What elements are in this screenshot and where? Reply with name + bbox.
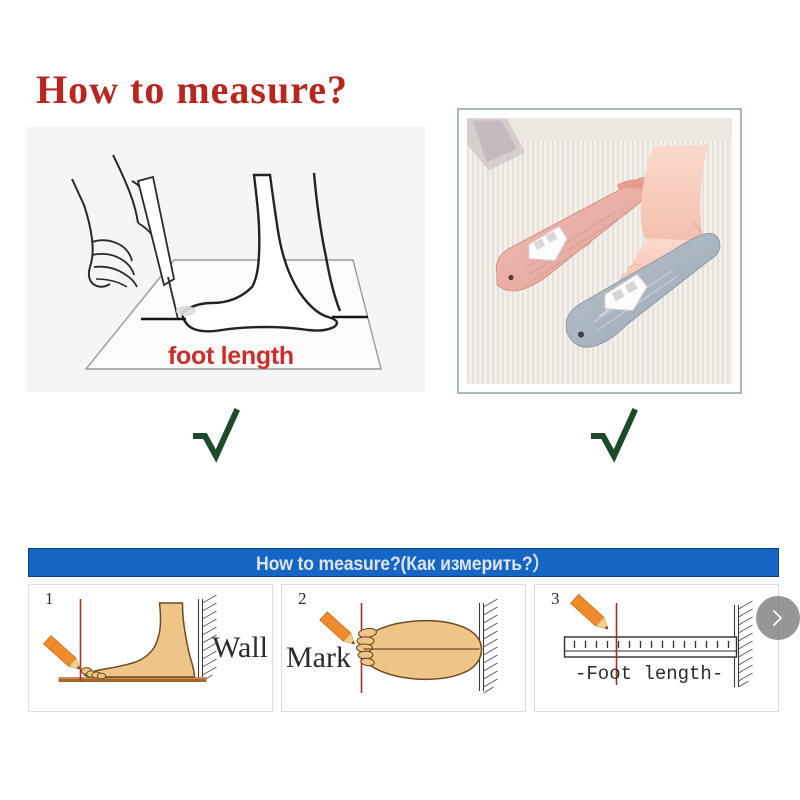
foot-length-caption: foot length: [168, 342, 294, 371]
how-to-measure-steps-block: How to measure?(Как измерить?）: [28, 548, 779, 713]
steps-panel-row: 1 Wall: [28, 584, 779, 712]
chevron-right-icon: [769, 609, 787, 627]
check-mark-icon-left: [190, 406, 248, 464]
check-mark-icon-right: [588, 406, 646, 464]
step-panel-3[interactable]: 3 -Foot length-: [534, 584, 779, 712]
carousel-next-button[interactable]: [756, 596, 800, 640]
step-label: Wall: [212, 631, 268, 665]
product-photo: [467, 118, 732, 384]
section-header-bar: How to measure?(Как измерить?）: [28, 548, 779, 577]
page-title: How to measure?: [36, 66, 348, 113]
step-number: 3: [551, 589, 560, 609]
step-label: Mark: [286, 641, 351, 675]
section-header-label: How to measure?(Как измерить?）: [257, 549, 551, 576]
foot-measuring-device-photo: [467, 118, 732, 384]
product-photo-frame: [457, 108, 742, 394]
step-panel-1[interactable]: 1 Wall: [28, 584, 273, 712]
step-label: -Foot length-: [575, 663, 723, 685]
step-panel-2[interactable]: 2 Mark: [281, 584, 526, 712]
step-number: 1: [45, 589, 54, 609]
check-mark-icon: [588, 406, 646, 464]
ruler-measure-diagram: [535, 585, 778, 711]
step-number: 2: [298, 589, 307, 609]
check-mark-icon: [190, 406, 248, 464]
